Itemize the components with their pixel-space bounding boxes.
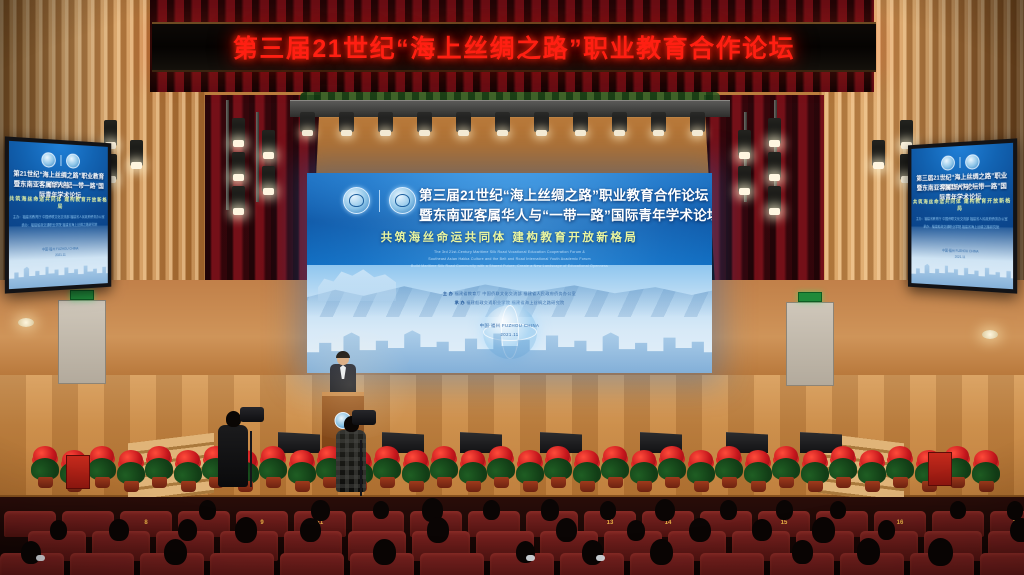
audience-member-head: [483, 500, 500, 520]
side-stage-light-5: [262, 166, 275, 192]
right-wall-sconce: [982, 330, 998, 339]
audience-member-head: [776, 500, 793, 520]
led-banner-text: 第三届21世纪“海上丝绸之路”职业教育合作论坛: [233, 29, 795, 65]
flower-pot: [893, 477, 908, 488]
audience-member-head: [878, 520, 895, 540]
flower-pot: [38, 477, 53, 488]
left-fire-cabinet: [66, 455, 90, 489]
audience-member-head: [655, 499, 675, 522]
seat-number: 15: [781, 520, 788, 526]
flower-pot: [295, 481, 310, 492]
audience-member-head: [300, 518, 321, 542]
left-monitor-logos: [41, 152, 80, 169]
left-monitor-slogan: 共筑海丝命运共同体 建构教育开放新格局: [9, 195, 108, 210]
potted-flower: [857, 446, 887, 492]
flower-pot: [494, 477, 509, 488]
seat-number: 13: [607, 520, 614, 526]
left-monitor-logo-icon-2: [66, 153, 80, 168]
side-stage-light-9: [768, 118, 781, 144]
audience-member-head: [556, 518, 577, 542]
flower-pot: [124, 481, 139, 492]
forum-logo-icon: [389, 187, 416, 214]
side-stage-light-10: [768, 152, 781, 178]
flower-pot: [979, 481, 994, 492]
audience-seat[interactable]: [980, 553, 1024, 575]
flower-pot: [637, 481, 652, 492]
auditorium-photo: 第三届21世纪“海上丝绸之路”职业教育合作论坛 第三届21世纪“海上丝绸之路”职…: [0, 0, 1024, 575]
audience-member-head: [830, 501, 846, 519]
potted-flower: [87, 442, 117, 488]
flower-pot: [950, 477, 965, 488]
audience-member-head: [1007, 501, 1023, 520]
audience-member-head: [235, 517, 257, 542]
potted-flower: [657, 442, 687, 488]
potted-flower: [258, 442, 288, 488]
flower-pot: [694, 481, 709, 492]
screen-title-block: 第三届21世纪“海上丝绸之路”职业教育合作论坛 暨东南亚客属华人与“一带一路”国…: [419, 186, 704, 225]
flower-pot: [779, 477, 794, 488]
audience-member-head: [650, 539, 673, 565]
light-tower-post-1: [226, 100, 229, 210]
left-exit-sign-icon: [70, 290, 94, 300]
right-monitor-org-block: 主办：福建省教育厅 中国侨联文化交流部 福建省人民政府侨务办公室 承办：福建船政…: [911, 216, 1013, 232]
audience-member-head: [164, 539, 187, 565]
audience-member-head: [792, 540, 812, 563]
seat-number: 9: [260, 520, 263, 526]
audience-member-head: [812, 517, 834, 542]
audience-seat[interactable]: [420, 553, 484, 575]
potted-flower: [515, 446, 545, 492]
right-monitor-logo-divider: [960, 157, 961, 168]
audience-member-head: [600, 501, 616, 520]
screen-english-block: The 3rd 21st-Century Maritime Silk Road …: [307, 249, 712, 269]
left-wall-monitor: 第21世纪“海上丝绸之路”职业教育合作论坛 暨东南亚客属华人与“一带一路”国际青…: [5, 136, 111, 293]
audience-member-head: [950, 501, 966, 519]
potted-flower: [287, 446, 317, 492]
potted-flower: [885, 442, 915, 488]
right-monitor-logo-icon-1: [941, 155, 955, 170]
flower-pot: [722, 477, 737, 488]
truss-spotlight-7: [534, 112, 549, 132]
face-mask: [526, 555, 535, 561]
institution-logo-icon: [343, 187, 370, 214]
audience-seat[interactable]: [700, 553, 764, 575]
right-tripod: [360, 440, 362, 496]
audience-seat[interactable]: [210, 553, 274, 575]
truss-spotlight-1: [300, 112, 315, 132]
potted-flower: [173, 446, 203, 492]
flower-pot: [152, 477, 167, 488]
flower-pot: [551, 477, 566, 488]
audience-member-head: [373, 501, 389, 519]
flower-pot: [380, 477, 395, 488]
logo-divider: [379, 190, 380, 212]
flower-row: [0, 432, 1024, 494]
potted-flower: [401, 446, 431, 492]
truss-spotlight-8: [573, 112, 588, 132]
potted-flower: [543, 442, 573, 488]
right-monitor-screen: 第三届21世纪“海上丝绸之路”职业教育合作论坛 暨东南亚客属华人与“一带一路”国…: [911, 143, 1013, 289]
audience-member-head: [857, 538, 880, 565]
audience-seat[interactable]: [70, 553, 134, 575]
left-monitor-logo-divider: [60, 155, 61, 166]
flower-pot: [836, 477, 851, 488]
truss-spotlight-6: [495, 112, 510, 132]
audience-seat[interactable]: [280, 553, 344, 575]
camera-operator-left-head: [226, 411, 241, 427]
potted-flower: [429, 442, 459, 488]
screen-title-line2: 暨东南亚客属华人与“一带一路”国际青年学术论坛: [419, 206, 704, 226]
flower-pot: [409, 481, 424, 492]
audience-member-head: [311, 500, 329, 521]
potted-flower: [743, 446, 773, 492]
potted-flower: [629, 446, 659, 492]
potted-flower: [572, 446, 602, 492]
camera-operator-left-body: [218, 425, 248, 487]
left-wall-sconce: [18, 318, 34, 327]
audience-member-head: [689, 518, 710, 543]
side-stage-light-12: [738, 130, 751, 156]
seat-number: 8: [144, 520, 147, 526]
potted-flower: [800, 446, 830, 492]
truss-spotlight-11: [690, 112, 705, 132]
left-monitor-host: 承办：福建船政交通职业学院 福建省海上丝绸之路研究院: [9, 221, 108, 230]
potted-flower: [372, 442, 402, 488]
audience-member-head: [541, 499, 560, 520]
right-monitor-slogan: 共筑海丝命运共同体 建构教育开放新格局: [911, 197, 1013, 212]
side-stage-light-13: [738, 166, 751, 192]
audience-member-head: [50, 520, 67, 540]
audience-member-head: [1010, 518, 1024, 543]
side-stage-light-14: [900, 120, 913, 146]
speaker-hair: [336, 351, 350, 358]
audience-member-head: [199, 500, 217, 520]
audience-area: 89111314151617: [0, 497, 1024, 575]
potted-flower: [714, 442, 744, 488]
flower-pot: [665, 477, 680, 488]
right-fire-cabinet: [928, 452, 952, 486]
audience-member-head: [928, 538, 953, 566]
left-tripod: [250, 431, 252, 487]
right-camera-icon: [352, 410, 376, 425]
right-monitor-host: 承办：福建船政交通职业学院 福建省海上丝绸之路研究院: [911, 223, 1013, 232]
screen-english-line3: Build Maritime Silk Road Community with …: [307, 263, 712, 270]
truss-spotlight-5: [456, 112, 471, 132]
audience-member-head: [720, 500, 737, 520]
flower-pot: [266, 477, 281, 488]
host-label: 承 办: [455, 300, 465, 305]
screen-english-line2: Southeast Asian Hakka Culture and the Be…: [307, 256, 712, 263]
audience-member-head: [373, 539, 395, 565]
side-stage-light-11: [768, 186, 781, 212]
left-monitor-organizer: 主办：福建省教育厅 中国侨联文化交流部 福建省人民政府侨务办公室: [9, 214, 108, 222]
organizer-line: 主 办 福建省教育厅 中国侨联文化交流部 福建省人民政府侨务办公室: [307, 289, 712, 298]
truss-spotlight-9: [612, 112, 627, 132]
potted-flower: [971, 446, 1001, 492]
organizer-label: 主 办: [443, 291, 453, 296]
side-stage-light-1: [232, 118, 245, 144]
right-exit-door[interactable]: [786, 302, 834, 386]
screen-logo-group: [343, 187, 416, 214]
right-exit-sign-icon: [798, 292, 822, 302]
right-monitor-logos: [941, 154, 980, 171]
left-camera-icon: [240, 407, 264, 422]
potted-flower: [144, 442, 174, 488]
side-stage-light-8: [130, 140, 143, 166]
flower-pot: [437, 477, 452, 488]
truss-spotlight-2: [339, 112, 354, 132]
left-monitor-org-block: 主办：福建省教育厅 中国侨联文化交流部 福建省人民政府侨务办公室 承办：福建船政…: [9, 214, 108, 230]
truss-spotlight-10: [651, 112, 666, 132]
audience-member-head: [427, 517, 450, 543]
flower-pot: [751, 481, 766, 492]
flower-pot: [95, 477, 110, 488]
flower-pot: [808, 481, 823, 492]
left-monitor-screen: 第21世纪“海上丝绸之路”职业教育合作论坛 暨东南亚客属华人与“一带一路”国际青…: [9, 141, 108, 289]
left-monitor-logo-icon-1: [41, 152, 55, 168]
flower-pot: [523, 481, 538, 492]
right-monitor-logo-icon-2: [965, 154, 979, 170]
led-banner: 第三届21世纪“海上丝绸之路”职业教育合作论坛: [152, 22, 876, 72]
potted-flower: [30, 442, 60, 488]
face-mask: [36, 555, 45, 561]
face-mask: [596, 555, 605, 561]
flower-pot: [466, 481, 481, 492]
side-stage-light-4: [262, 130, 275, 156]
screen-date: 2021.11: [307, 330, 712, 339]
potted-flower: [116, 446, 146, 492]
side-stage-light-16: [872, 140, 885, 166]
audience-member-head: [109, 519, 128, 541]
potted-flower: [600, 442, 630, 488]
truss-spotlight-3: [378, 112, 393, 132]
audience-member-head: [178, 519, 197, 541]
potted-flower: [828, 442, 858, 488]
seat-number: 16: [897, 520, 904, 526]
audience-member-head: [752, 519, 771, 541]
side-stage-light-3: [232, 186, 245, 212]
screen-english-line1: The 3rd 21st-Century Maritime Silk Road …: [307, 249, 712, 256]
screen-place: 中国·福州 FUZHOU CHINA: [307, 321, 712, 330]
organizer-value: 福建省教育厅 中国侨联文化交流部 福建省人民政府侨务办公室: [455, 291, 577, 296]
potted-flower: [486, 442, 516, 488]
truss-spotlight-4: [417, 112, 432, 132]
flower-pot: [181, 481, 196, 492]
potted-flower: [686, 446, 716, 492]
potted-flower: [458, 446, 488, 492]
flower-pot: [580, 481, 595, 492]
flower-pot: [608, 477, 623, 488]
flower-pot: [865, 481, 880, 492]
screen-title-line1: 第三届21世纪“海上丝绸之路”职业教育合作论坛: [419, 186, 704, 206]
screen-place-block: 中国·福州 FUZHOU CHINA 2021.11: [307, 321, 712, 339]
screen-slogan: 共筑海丝命运共同体 建构教育开放新格局: [307, 229, 712, 245]
right-wall-monitor: 第三届21世纪“海上丝绸之路”职业教育合作论坛 暨东南亚客属华人与“一带一路”国…: [908, 138, 1017, 293]
light-tower-post-2: [256, 112, 259, 202]
main-led-screen: 第三届21世纪“海上丝绸之路”职业教育合作论坛 暨东南亚客属华人与“一带一路”国…: [307, 173, 712, 373]
audience-member-head: [627, 520, 646, 541]
side-stage-light-2: [232, 152, 245, 178]
potted-flower: [771, 442, 801, 488]
left-exit-door[interactable]: [58, 300, 106, 384]
